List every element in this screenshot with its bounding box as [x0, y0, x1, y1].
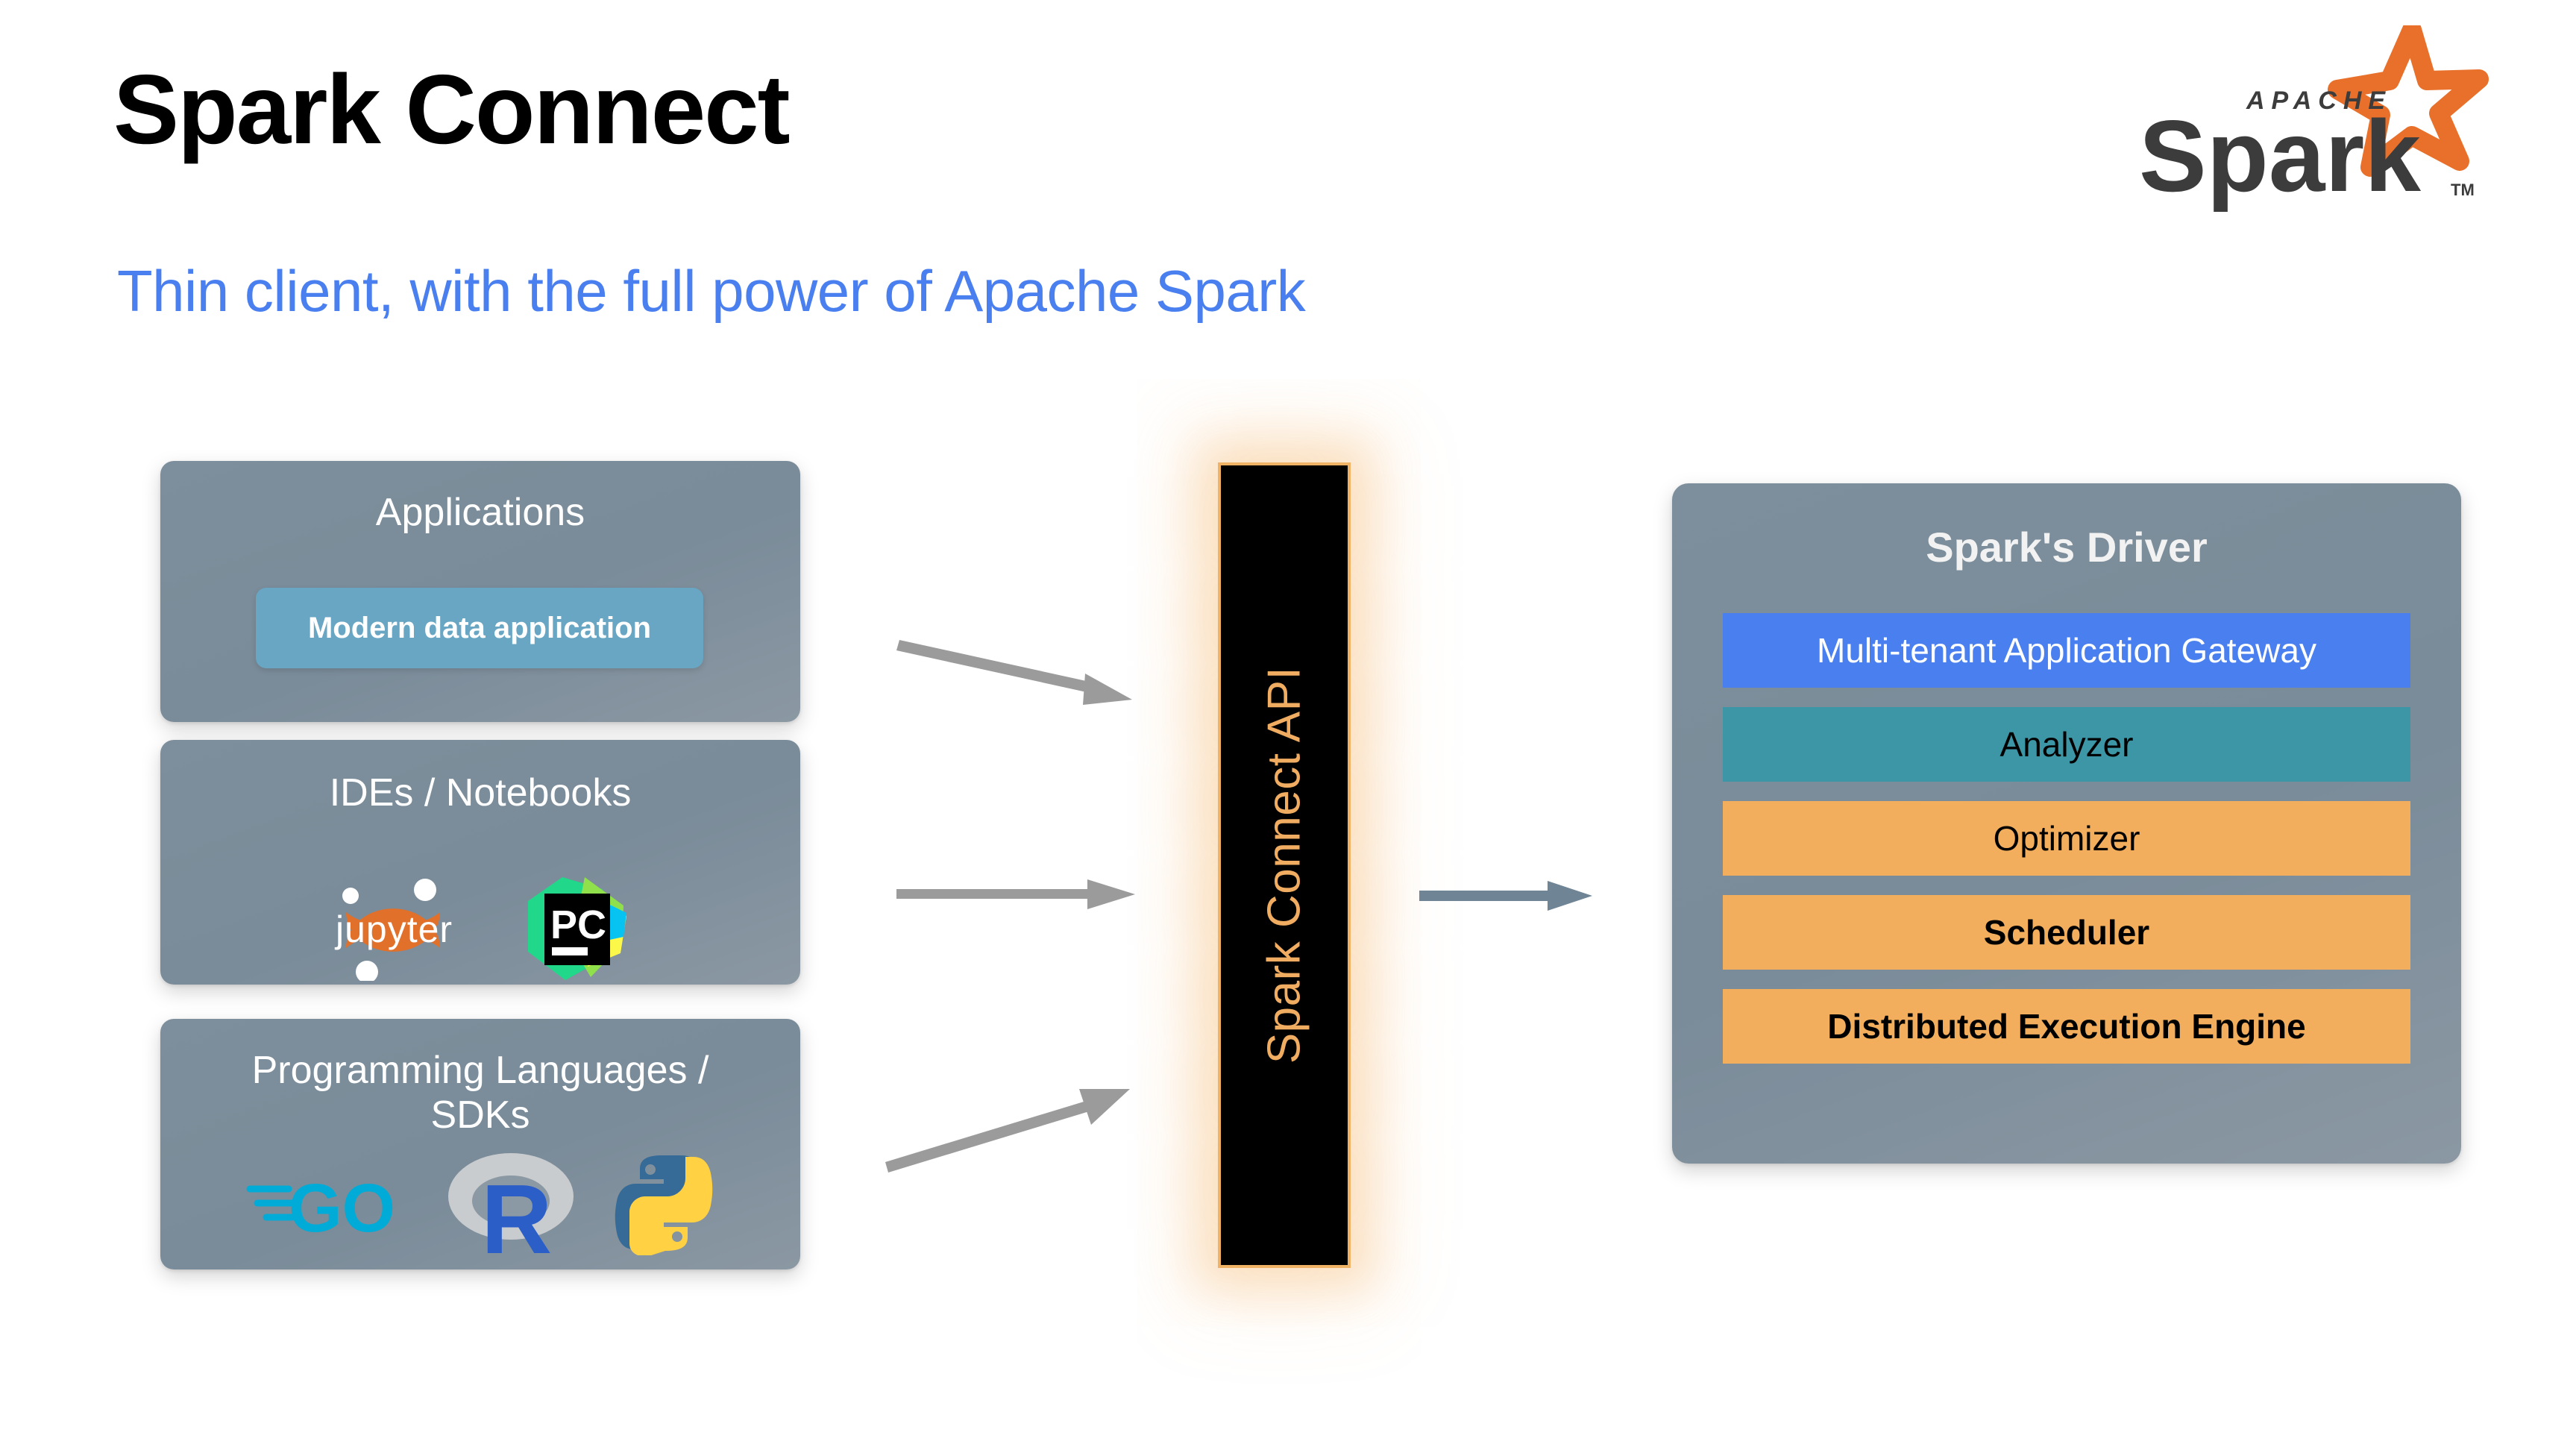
card-languages-title-line1: Programming Languages /	[252, 1049, 709, 1092]
svg-text:jupyter: jupyter	[334, 908, 453, 950]
card-ides-notebooks[interactable]: IDEs / Notebooks jupyter	[160, 740, 800, 985]
svg-text:R: R	[481, 1164, 552, 1259]
python-logo	[612, 1151, 716, 1259]
svg-text:GO: GO	[289, 1170, 395, 1246]
arrow-ides-to-api	[895, 871, 1149, 923]
driver-bar-distributed-execution-engine[interactable]: Distributed Execution Engine	[1723, 989, 2410, 1064]
card-applications-title: Applications	[160, 491, 800, 536]
svg-text:PC: PC	[550, 903, 606, 947]
golang-logo: GO	[245, 1161, 417, 1250]
r-language-logo: R	[445, 1147, 583, 1263]
card-ides-title: IDEs / Notebooks	[160, 771, 800, 816]
arrow-languages-to-api	[884, 1067, 1152, 1178]
language-logo-row: GO R	[160, 1147, 800, 1263]
card-programming-languages[interactable]: Programming Languages / SDKs GO	[160, 1019, 800, 1269]
driver-bar-scheduler[interactable]: Scheduler	[1723, 895, 2410, 970]
driver-bar-analyzer[interactable]: Analyzer	[1723, 707, 2410, 782]
arrow-api-to-driver	[1419, 871, 1606, 923]
arrow-applications-to-api	[895, 619, 1149, 716]
pycharm-logo: PC	[519, 873, 631, 988]
slide-canvas: Spark Connect Thin client, with the full…	[0, 0, 2576, 1447]
ide-logo-row: jupyter PC	[160, 873, 800, 988]
svg-text:Spark: Spark	[2139, 99, 2421, 212]
spark-connect-api-label: Spark Connect API	[1258, 667, 1311, 1064]
driver-bar-optimizer[interactable]: Optimizer	[1723, 801, 2410, 876]
driver-component-stack: Multi-tenant Application Gateway Analyze…	[1723, 613, 2410, 1064]
card-languages-title: Programming Languages / SDKs	[160, 1049, 800, 1138]
page-title: Spark Connect	[113, 58, 789, 162]
jupyter-logo: jupyter	[330, 876, 471, 985]
card-driver-title: Spark's Driver	[1672, 524, 2461, 571]
svg-text:TM: TM	[2451, 181, 2475, 199]
apache-spark-logo: APACHE Spark TM	[2134, 25, 2507, 212]
page-subtitle: Thin client, with the full power of Apac…	[117, 260, 1305, 324]
card-applications[interactable]: Applications Modern data application	[160, 461, 800, 722]
spark-connect-api-bar[interactable]: Spark Connect API	[1218, 462, 1351, 1268]
card-languages-title-line2: SDKs	[431, 1093, 530, 1137]
driver-bar-multi-tenant-gateway[interactable]: Multi-tenant Application Gateway	[1723, 613, 2410, 688]
modern-data-application-chip[interactable]: Modern data application	[256, 588, 703, 668]
card-spark-driver[interactable]: Spark's Driver Multi-tenant Application …	[1672, 483, 2461, 1164]
